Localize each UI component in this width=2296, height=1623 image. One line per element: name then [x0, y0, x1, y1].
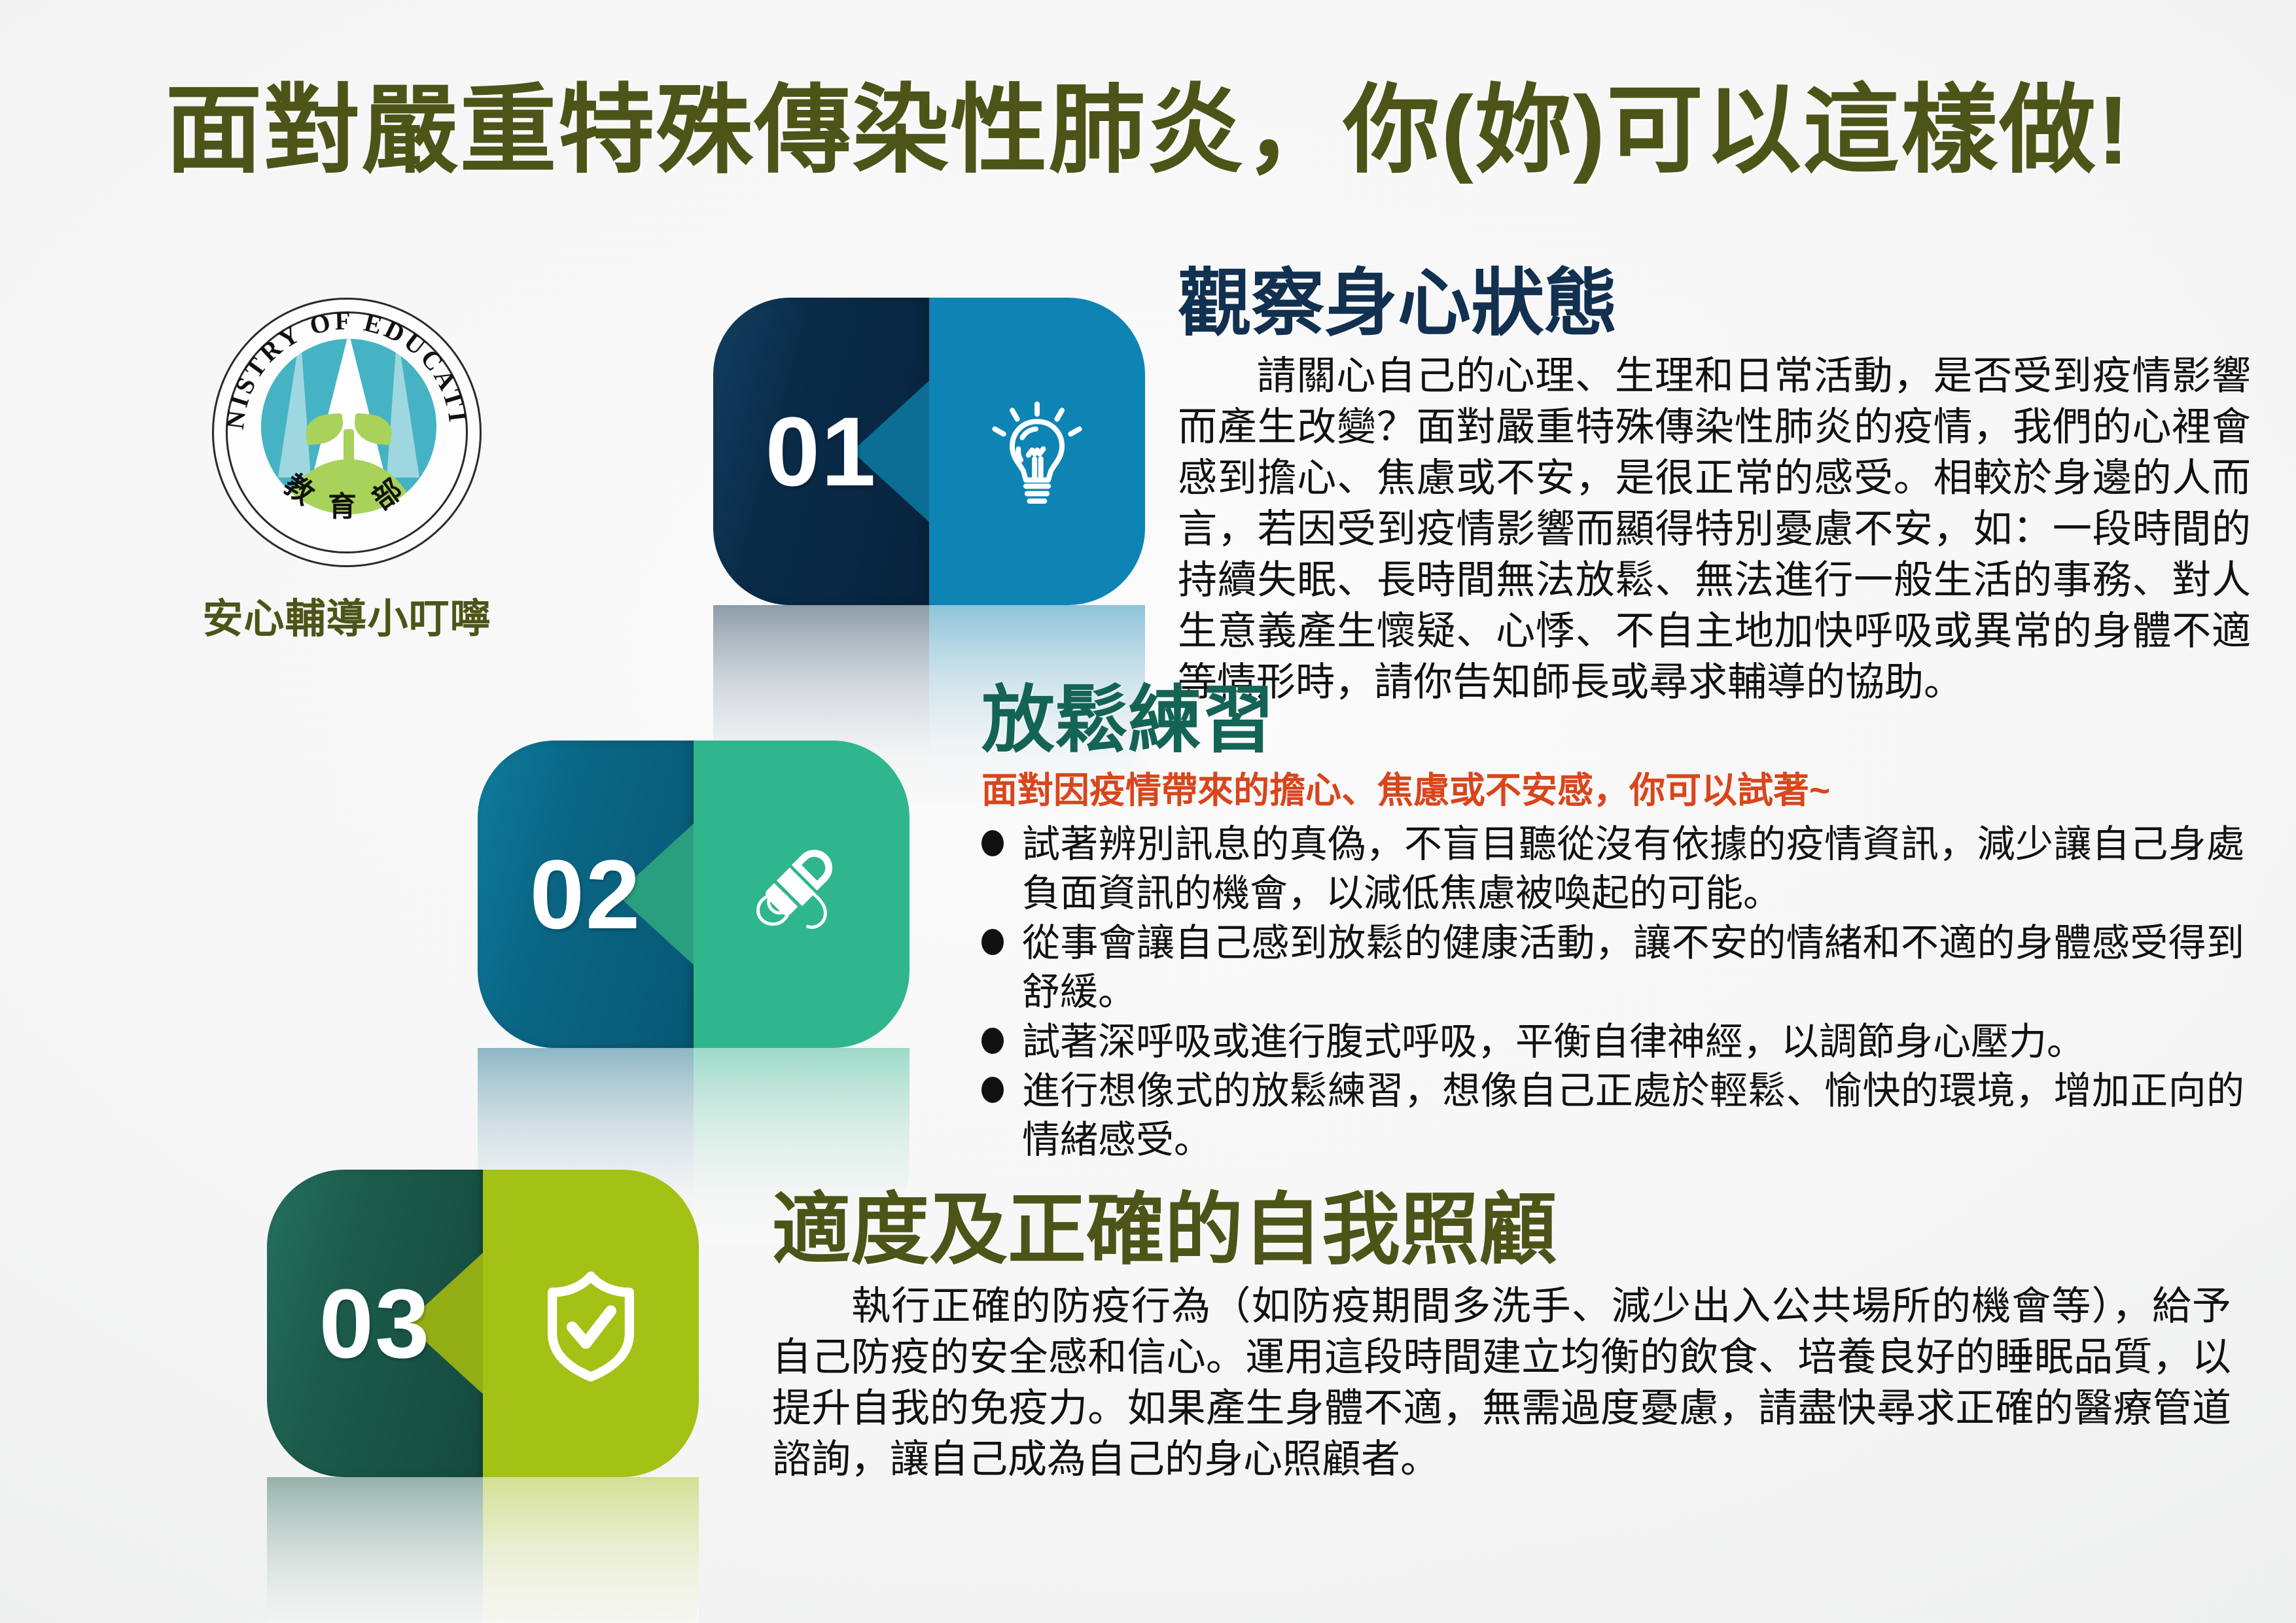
section-02-heading: 放鬆練習 — [981, 684, 2244, 757]
badge-01-number: 01 — [766, 402, 877, 500]
section-02: 放鬆練習 面對因疫情帶來的擔心、焦慮或不安感，你可以試著~ 試著辨別訊息的真偽，… — [981, 684, 2244, 1165]
badge-03-reflection — [267, 1477, 699, 1623]
step-badge-03: 03 — [267, 1170, 699, 1477]
list-item: 試著辨別訊息的真偽，不盲目聽從沒有依據的疫情資訊，減少讓自己身處負面資訊的機會，… — [981, 820, 2244, 918]
bullet-text: 試著辨別訊息的真偽，不盲目聽從沒有依據的疫情資訊，減少讓自己身處負面資訊的機會，… — [1022, 823, 2244, 915]
list-item: 試著深呼吸或進行腹式呼吸，平衡自律神經，以調節身心壓力。 — [981, 1017, 2244, 1066]
logo-caption: 安心輔導小叮嚀 — [196, 585, 497, 644]
seal-inner-text: 教 育 部 — [278, 468, 416, 523]
list-item: 進行想像式的放鬆練習，想像自己正處於輕鬆、愉快的環境，增加正向的情緒感受。 — [981, 1066, 2244, 1165]
section-03-body: 執行正確的防疫行為（如防疫期間多洗手、減少出入公共場所的機會等），給予自己防疫的… — [772, 1281, 2231, 1485]
ministry-logo-block: MINISTRY OF EDUCATION 教 育 部 安心輔導小叮嚀 — [196, 298, 497, 644]
bullet-dot-icon — [981, 929, 1004, 955]
step-badge-01: 01 — [713, 298, 1145, 605]
section-03: 適度及正確的自我照顧 執行正確的防疫行為（如防疫期間多洗手、減少出入公共場所的機… — [772, 1191, 2231, 1485]
bullet-text: 從事會讓自己感到放鬆的健康活動，讓不安的情緒和不適的身體感受得到舒緩。 — [1022, 922, 2244, 1013]
bullet-dot-icon — [981, 1028, 1004, 1054]
step-badge-02: 02 — [478, 741, 910, 1048]
list-item: 從事會讓自己感到放鬆的健康活動，讓不安的情緒和不適的身體感受得到舒緩。 — [981, 918, 2244, 1017]
seal-outer-text: MINISTRY OF EDUCATION — [214, 300, 472, 431]
badge-02-icon-panel — [694, 741, 910, 1048]
section-02-subtitle: 面對因疫情帶來的擔心、焦慮或不安感，你可以試著~ — [981, 761, 2244, 813]
section-03-body-text: 執行正確的防疫行為（如防疫期間多洗手、減少出入公共場所的機會等），給予自己防疫的… — [772, 1284, 2231, 1481]
bullet-dot-icon — [981, 830, 1004, 856]
lightbulb-icon — [975, 389, 1099, 514]
section-03-heading: 適度及正確的自我照顧 — [772, 1191, 2231, 1269]
shield-check-icon — [529, 1261, 653, 1386]
infographic-canvas: 面對嚴重特殊傳染性肺炎，你(妳)可以這樣做! — [0, 0, 2296, 1623]
microphone-icon — [739, 832, 864, 956]
section-01-body-text: 請關心自己的心理、生理和日常活動，是否受到疫情影響而產生改變？面對嚴重特殊傳染性… — [1178, 354, 2251, 704]
section-01: 觀察身心狀態 請關心自己的心理、生理和日常活動，是否受到疫情影響而產生改變？面對… — [1178, 267, 2251, 708]
svg-text:教 育 部: 教 育 部 — [278, 468, 416, 523]
bullet-text: 進行想像式的放鬆練習，想像自己正處於輕鬆、愉快的環境，增加正向的情緒感受。 — [1022, 1070, 2244, 1161]
svg-text:MINISTRY OF EDUCATION: MINISTRY OF EDUCATION — [214, 300, 472, 431]
badge-03-icon-panel — [483, 1170, 699, 1477]
section-01-body: 請關心自己的心理、生理和日常活動，是否受到疫情影響而產生改變？面對嚴重特殊傳染性… — [1178, 351, 2251, 708]
badge-03-number: 03 — [319, 1274, 431, 1372]
bullet-dot-icon — [981, 1077, 1004, 1103]
section-02-bullet-list: 試著辨別訊息的真偽，不盲目聽從沒有依據的疫情資訊，減少讓自己身處負面資訊的機會，… — [981, 820, 2244, 1165]
seal-lettering: MINISTRY OF EDUCATION 教 育 部 — [214, 300, 480, 565]
bullet-text: 試著深呼吸或進行腹式呼吸，平衡自律神經，以調節身心壓力。 — [1022, 1021, 2085, 1063]
moe-seal-icon: MINISTRY OF EDUCATION 教 育 部 — [212, 298, 482, 567]
badge-02-number: 02 — [530, 845, 642, 943]
section-01-heading: 觀察身心狀態 — [1178, 267, 2251, 340]
page-title: 面對嚴重特殊傳染性肺炎，你(妳)可以這樣做! — [0, 51, 2296, 192]
badge-01-icon-panel — [929, 298, 1145, 605]
